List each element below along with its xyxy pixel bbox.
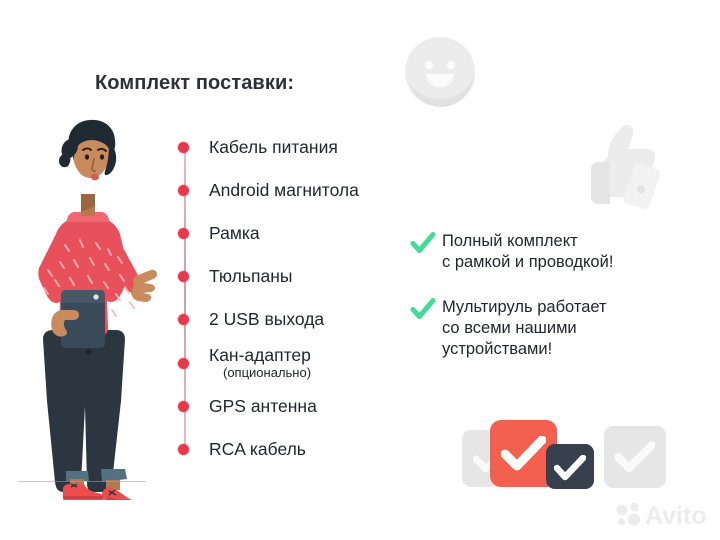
green-check-icon bbox=[410, 230, 436, 256]
page-title: Комплект поставки: bbox=[95, 72, 294, 95]
benefit-text: Полный комплект с рамкой и проводкой! bbox=[442, 231, 613, 273]
list-item-note: (опционально) bbox=[223, 366, 311, 380]
check-icon bbox=[501, 436, 546, 472]
check-icon bbox=[554, 455, 586, 481]
benefit-line-1: Полный комплект bbox=[442, 232, 578, 250]
benefit-line-2: с рамкой и проводкой! bbox=[442, 253, 613, 271]
benefit-line-3: устройствами! bbox=[442, 340, 552, 358]
list-item-label: GPS антенна bbox=[209, 397, 317, 416]
checkbox-cards-graphic bbox=[462, 418, 662, 490]
smiley-face-icon bbox=[404, 36, 476, 108]
list-item-label: Рамка bbox=[209, 224, 260, 243]
benefit-item: Полный комплект с рамкой и проводкой! bbox=[410, 231, 613, 273]
list-item: GPS антенна bbox=[176, 397, 317, 416]
list-item-label: RCA кабель bbox=[209, 440, 306, 459]
thumbs-up-icon bbox=[578, 118, 664, 210]
list-item: Тюльпаны bbox=[176, 267, 292, 286]
checkbox-card-dark bbox=[546, 444, 594, 489]
benefit-text: Мультируль работает со всеми нашими устр… bbox=[442, 297, 607, 360]
list-item: Рамка bbox=[176, 224, 260, 243]
bullet-dot-icon bbox=[178, 271, 189, 282]
list-item: Кан-адаптер (опционально) bbox=[176, 346, 311, 381]
list-item: Кабель питания bbox=[176, 138, 338, 157]
bullet-dot-icon bbox=[178, 401, 189, 412]
package-list: Кабель питания Android магнитола Рамка Т… bbox=[176, 130, 416, 460]
list-item-label: Кабель питания bbox=[209, 138, 338, 157]
promo-banner: Комплект поставки: bbox=[0, 0, 720, 540]
list-item: 2 USB выхода bbox=[176, 310, 324, 329]
list-item-label: Android магнитола bbox=[209, 181, 359, 200]
list-item-title: Кан-адаптер bbox=[209, 345, 311, 365]
checkbox-card-gray-right bbox=[604, 426, 666, 488]
check-icon bbox=[615, 441, 655, 474]
bullet-dot-icon bbox=[178, 314, 189, 325]
woman-with-tablet-illustration bbox=[8, 112, 168, 500]
bullet-dot-icon bbox=[178, 358, 189, 369]
bullet-dot-icon bbox=[178, 185, 189, 196]
avito-wordmark: Avito bbox=[645, 502, 707, 528]
ground-line bbox=[18, 481, 146, 482]
list-item-label: Кан-адаптер (опционально) bbox=[209, 346, 311, 381]
list-item: Android магнитола bbox=[176, 181, 359, 200]
bullet-dot-icon bbox=[178, 228, 189, 239]
avito-watermark: Avito bbox=[614, 500, 710, 528]
green-check-icon bbox=[410, 296, 436, 322]
list-item: RCA кабель bbox=[176, 440, 306, 459]
benefit-item: Мультируль работает со всеми нашими устр… bbox=[410, 297, 607, 360]
list-item-label: Тюльпаны bbox=[209, 267, 292, 286]
list-item-label: 2 USB выхода bbox=[209, 310, 324, 329]
bullet-dot-icon bbox=[178, 444, 189, 455]
bullet-dot-icon bbox=[178, 142, 189, 153]
benefit-line-2: со всеми нашими bbox=[442, 319, 577, 337]
benefit-line-1: Мультируль работает bbox=[442, 298, 607, 316]
